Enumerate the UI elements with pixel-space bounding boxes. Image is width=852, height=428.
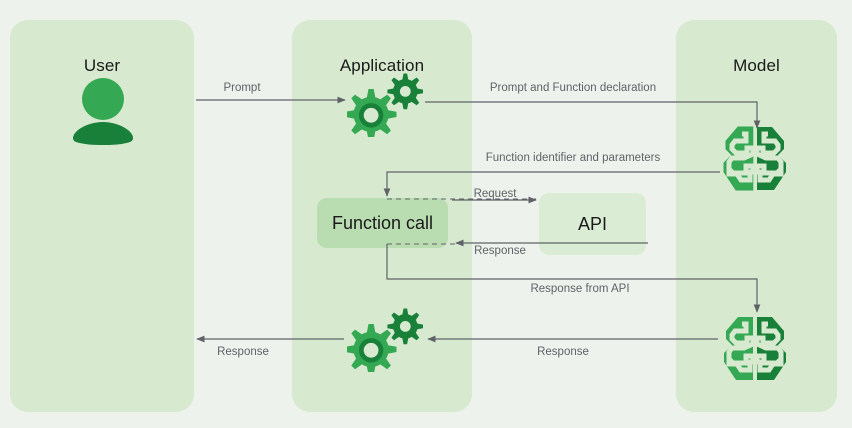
edge-label-function-identifier-and-parameters: Function identifier and parameters xyxy=(486,152,661,164)
edge-label-prompt-and-function-declaration: Prompt and Function declaration xyxy=(490,82,656,94)
function-call-node[interactable]: Function call xyxy=(317,198,448,248)
edge-label-prompt: Prompt xyxy=(223,82,260,94)
edge-label-response-api: Response xyxy=(474,245,526,257)
column-title-user: User xyxy=(10,56,194,76)
api-label: API xyxy=(578,214,607,235)
gears-icon xyxy=(347,71,423,142)
edge-label-response-model: Response xyxy=(537,346,589,358)
brain-icon xyxy=(720,124,794,199)
edge-label-response-from-api: Response from API xyxy=(530,283,629,295)
gears-icon xyxy=(347,306,423,377)
brain-icon xyxy=(720,314,794,389)
diagram-canvas: User Application Model xyxy=(0,0,852,428)
api-node[interactable]: API xyxy=(539,193,646,255)
edge-label-request: Request xyxy=(474,188,517,200)
user-avatar-icon xyxy=(73,78,133,150)
function-call-label: Function call xyxy=(332,213,433,234)
edge-label-response-user: Response xyxy=(217,346,269,358)
column-title-model: Model xyxy=(676,56,837,76)
